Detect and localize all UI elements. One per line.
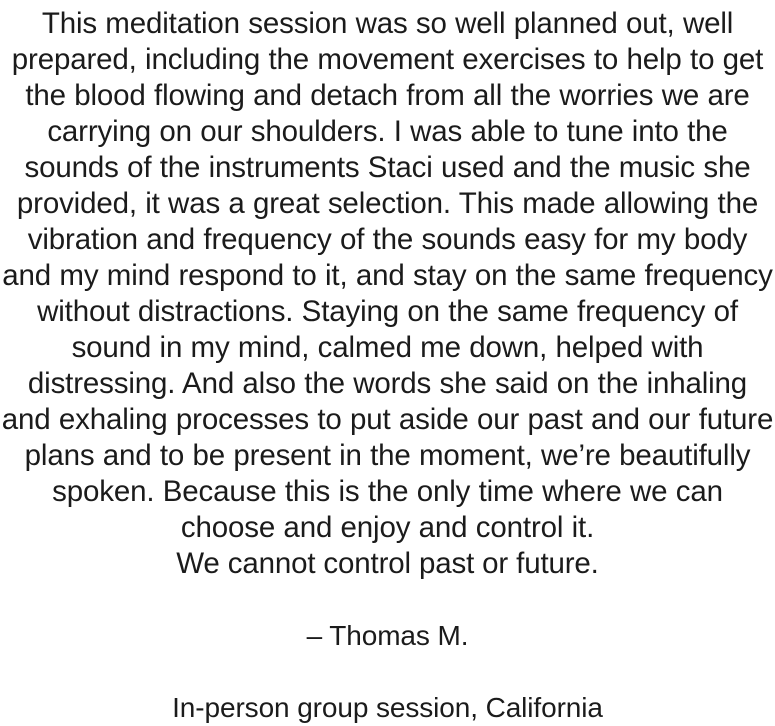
testimonial-quote-body: This meditation session was so well plan… bbox=[0, 6, 775, 546]
testimonial-attribution: – Thomas M. bbox=[0, 618, 775, 654]
attribution-meta-spacer bbox=[0, 654, 775, 690]
testimonial-quote-closing: We cannot control past or future. bbox=[0, 546, 775, 582]
quote-attribution-spacer bbox=[0, 582, 775, 618]
testimonial-card: This meditation session was so well plan… bbox=[0, 0, 775, 697]
testimonial-session-meta: In-person group session, California bbox=[0, 690, 775, 726]
